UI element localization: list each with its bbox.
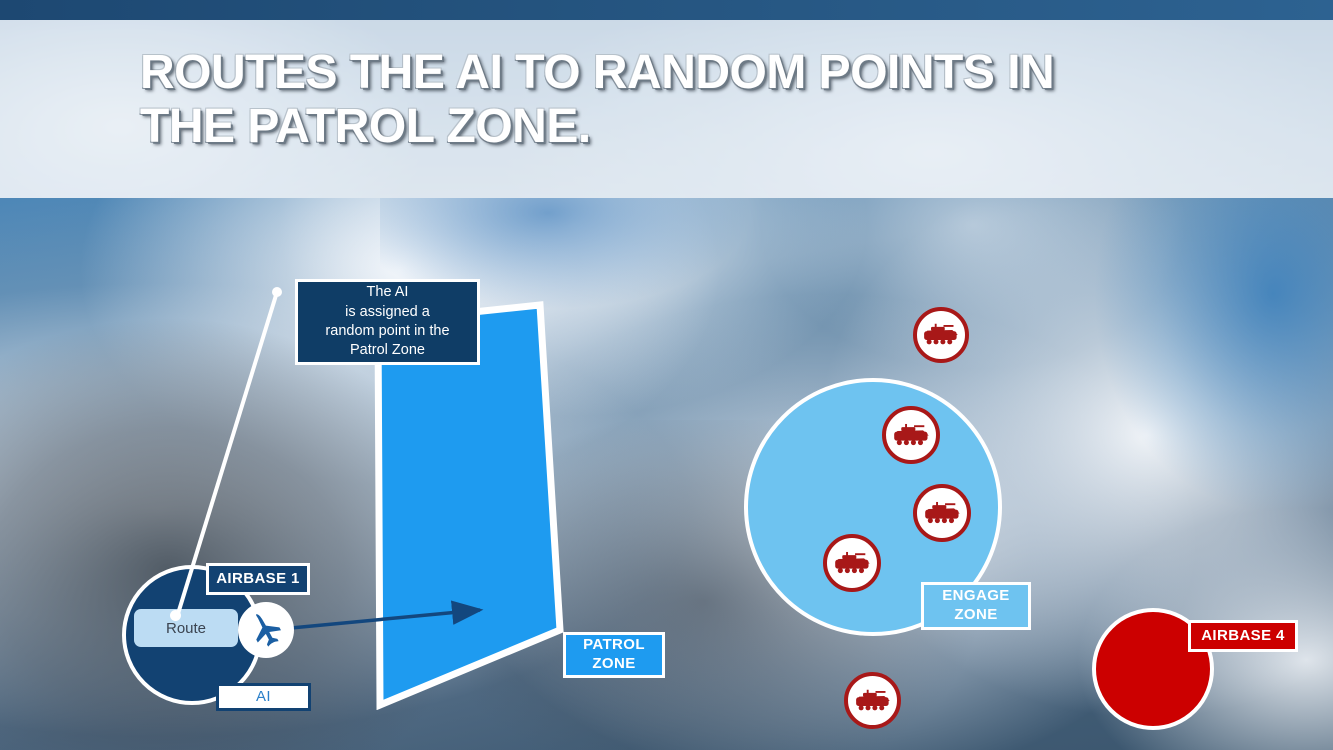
page-title: ROUTES THE AI TO RANDOM POINTS IN THE PA… [140, 46, 1200, 154]
ai-aircraft-marker[interactable] [238, 602, 294, 658]
armored-vehicle-icon [891, 422, 932, 449]
armored-vehicle-icon [853, 688, 893, 714]
ai-assignment-callout[interactable]: The AI is assigned a random point in the… [295, 279, 480, 365]
blue-sky-patch-right [1033, 198, 1333, 518]
fighter-jet-icon [245, 609, 287, 651]
engage-zone-label[interactable]: ENGAGE ZONE [921, 582, 1031, 630]
route-chip[interactable]: Route [134, 609, 238, 647]
armored-vehicle-icon [922, 500, 963, 527]
route-anchor-dot [170, 610, 181, 621]
armored-vehicle-icon [921, 322, 961, 348]
enemy-marker[interactable] [844, 672, 901, 729]
enemy-marker[interactable] [882, 406, 940, 464]
airbase-4-label[interactable]: AIRBASE 4 [1188, 620, 1298, 652]
armored-vehicle-icon [832, 550, 873, 577]
airbase-1-label[interactable]: AIRBASE 1 [206, 563, 310, 595]
enemy-marker[interactable] [913, 307, 969, 363]
ai-label[interactable]: AI [216, 683, 311, 711]
enemy-marker[interactable] [823, 534, 881, 592]
enemy-marker[interactable] [913, 484, 971, 542]
top-accent-bar [0, 0, 1333, 20]
patrol-zone-label[interactable]: PATROL ZONE [563, 632, 665, 678]
slide-canvas: ROUTES THE AI TO RANDOM POINTS IN THE PA… [0, 0, 1333, 750]
